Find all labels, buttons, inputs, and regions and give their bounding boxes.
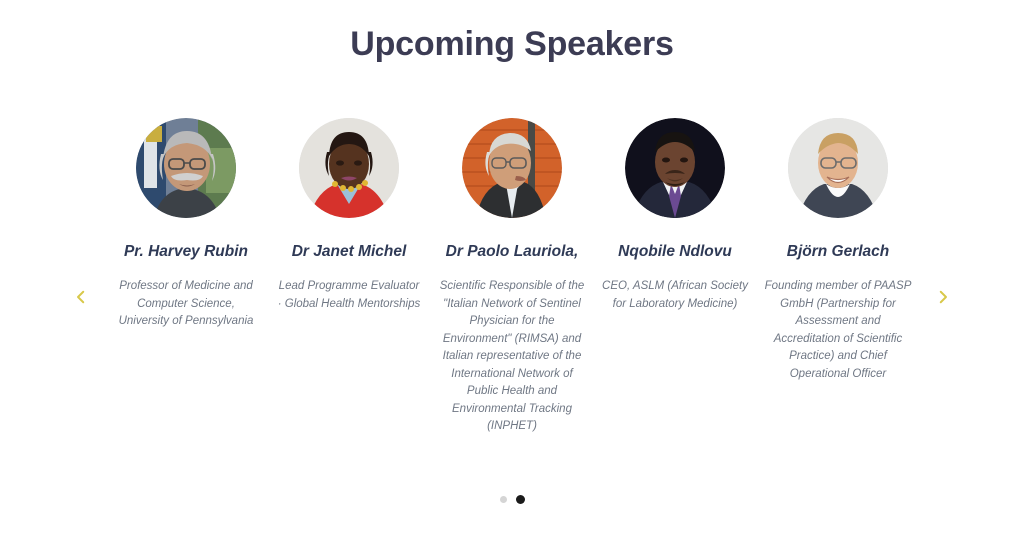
avatar xyxy=(136,118,236,218)
speakers-list: Pr. Harvey Rubin Professor of Medicine a… xyxy=(102,118,922,436)
speaker-card[interactable]: Pr. Harvey Rubin Professor of Medicine a… xyxy=(105,118,268,331)
speaker-card[interactable]: Dr Paolo Lauriola, Scientific Responsibl… xyxy=(431,118,594,436)
pagination-dot-1[interactable] xyxy=(500,496,507,503)
page-title: Upcoming Speakers xyxy=(0,25,1024,64)
speakers-carousel: Pr. Harvey Rubin Professor of Medicine a… xyxy=(60,118,964,436)
avatar xyxy=(462,118,562,218)
speaker-bio: Scientific Responsible of the "Italian N… xyxy=(433,278,592,436)
speaker-card[interactable]: Björn Gerlach Founding member of PAASP G… xyxy=(757,118,920,383)
carousel-pagination xyxy=(0,495,1024,504)
speaker-name: Björn Gerlach xyxy=(759,239,918,264)
speaker-name: Dr Janet Michel xyxy=(270,239,429,264)
speaker-name: Dr Paolo Lauriola, xyxy=(433,239,592,264)
speaker-name: Pr. Harvey Rubin xyxy=(107,239,266,264)
speakers-section: Upcoming Speakers xyxy=(0,0,1024,551)
pagination-dot-2[interactable] xyxy=(516,495,525,504)
speaker-bio: Lead Programme Evaluator · Global Health… xyxy=(270,278,429,313)
avatar xyxy=(788,118,888,218)
carousel-prev-arrow-icon[interactable] xyxy=(60,118,102,306)
avatar xyxy=(625,118,725,218)
speaker-card[interactable]: Nqobile Ndlovu CEO, ASLM (African Societ… xyxy=(594,118,757,313)
speaker-bio: Founding member of PAASP GmbH (Partnersh… xyxy=(759,278,918,383)
speaker-card[interactable]: Dr Janet Michel Lead Programme Evaluator… xyxy=(268,118,431,313)
speaker-bio: Professor of Medicine and Computer Scien… xyxy=(107,278,266,331)
carousel-next-arrow-icon[interactable] xyxy=(922,118,964,306)
speaker-bio: CEO, ASLM (African Society for Laborator… xyxy=(596,278,755,313)
avatar xyxy=(299,118,399,218)
speaker-name: Nqobile Ndlovu xyxy=(596,239,755,264)
